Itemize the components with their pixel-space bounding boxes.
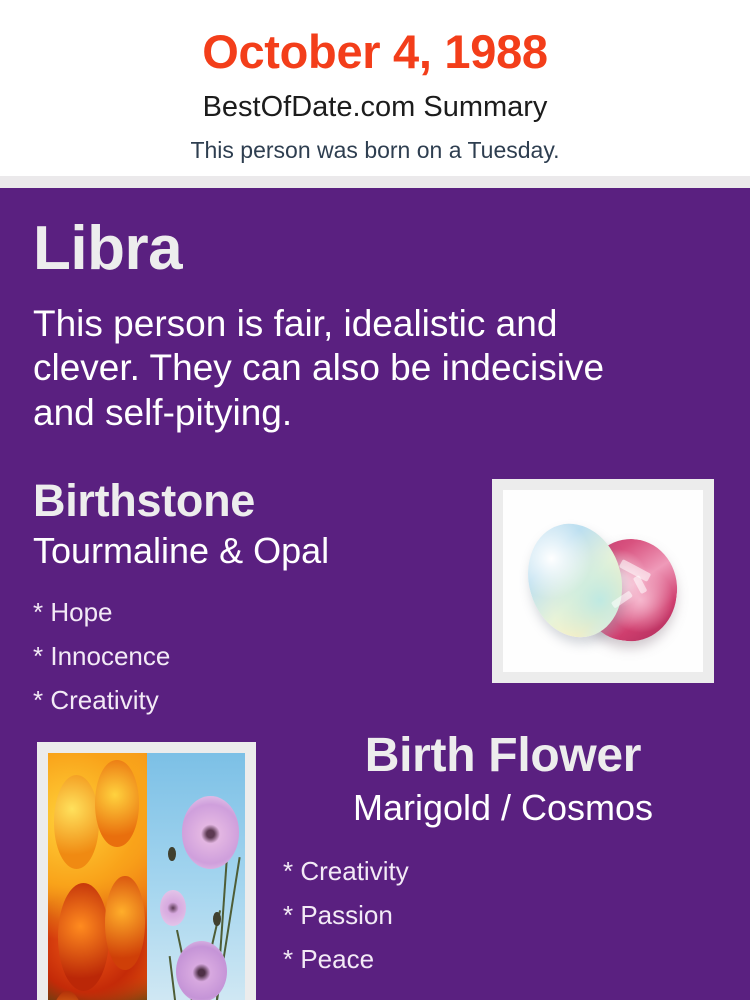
zodiac-sign-name: Libra — [33, 218, 633, 280]
card-header: October 4, 1988 BestOfDate.com Summary T… — [0, 0, 750, 176]
birthstone-image-frame — [492, 479, 714, 683]
birth-day-note: This person was born on a Tuesday. — [0, 122, 750, 162]
flower-bud-icon — [213, 912, 221, 926]
zodiac-section: Libra This person is fair, idealistic an… — [33, 218, 633, 435]
list-item: * Creativity — [33, 669, 473, 713]
birth-flower-names: Marigold / Cosmos — [283, 780, 723, 826]
list-item: * Peace — [283, 928, 723, 972]
birthstone-section: Birthstone Tourmaline & Opal * Hope * In… — [33, 478, 473, 713]
birth-flower-section: Birth Flower Marigold / Cosmos * Creativ… — [283, 732, 723, 972]
marigold-bloom-icon — [58, 883, 109, 991]
birthstone-trait-list: * Hope * Innocence * Creativity — [33, 569, 473, 713]
marigold-bloom-icon — [50, 991, 85, 1000]
birth-flower-image — [48, 753, 245, 1000]
site-summary-label: BestOfDate.com Summary — [0, 75, 750, 122]
flower-bud-icon — [168, 847, 176, 861]
header-divider — [0, 176, 750, 188]
gemstone-illustration — [503, 490, 703, 672]
page-title: October 4, 1988 — [0, 0, 750, 75]
birthstone-image — [503, 490, 703, 672]
cosmos-bloom-icon — [160, 890, 186, 926]
birth-flower-image-frame — [37, 742, 256, 1000]
marigold-bloom-icon — [95, 760, 138, 847]
list-item: * Hope — [33, 581, 473, 625]
birth-flower-heading: Birth Flower — [283, 732, 723, 780]
zodiac-description: This person is fair, idealistic and clev… — [33, 280, 613, 435]
birthstone-heading: Birthstone — [33, 478, 473, 523]
marigold-bloom-icon — [105, 876, 144, 970]
cosmos-bloom-icon — [176, 941, 227, 1000]
marigold-bloom-icon — [54, 775, 99, 869]
cosmos-bloom-icon — [182, 796, 239, 868]
list-item: * Creativity — [283, 840, 723, 884]
marigold-photo-half — [48, 753, 147, 1000]
birth-flower-trait-list: * Creativity * Passion * Peace — [283, 826, 723, 972]
birthday-summary-card: October 4, 1988 BestOfDate.com Summary T… — [0, 0, 750, 1000]
list-item: * Passion — [283, 884, 723, 928]
content-panel: Libra This person is fair, idealistic an… — [0, 188, 750, 1000]
flower-collage — [48, 753, 245, 1000]
list-item: * Innocence — [33, 625, 473, 669]
birthstone-names: Tourmaline & Opal — [33, 523, 473, 569]
cosmos-photo-half — [147, 753, 246, 1000]
